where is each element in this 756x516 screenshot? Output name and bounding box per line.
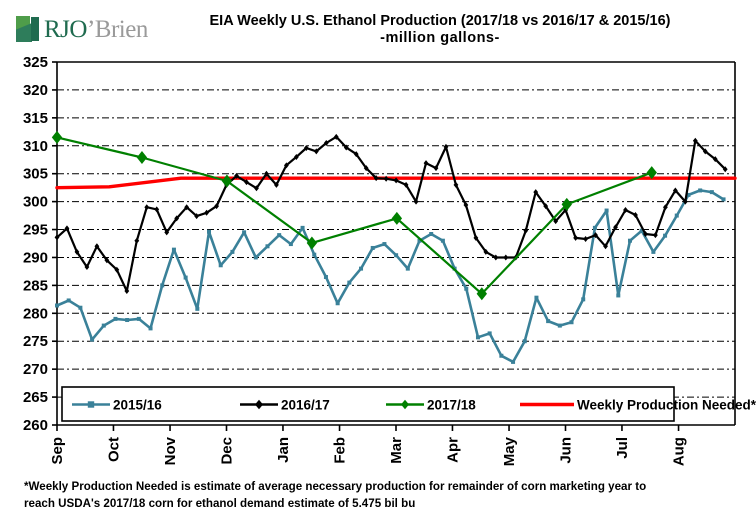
y-axis-tick-label: 325 <box>23 54 48 71</box>
series-2015-16-marker <box>523 339 527 343</box>
series-2015-16-marker <box>113 317 117 321</box>
series-2015-16-marker <box>651 250 655 254</box>
series-2015-16-marker <box>371 246 375 250</box>
series-2016-17-marker <box>583 236 588 242</box>
series-2015-16-marker <box>137 317 141 321</box>
series-2015-16-marker <box>324 275 328 279</box>
series-2015-16-marker <box>558 324 562 328</box>
series-2015-16-marker <box>67 298 71 302</box>
series-2015-16-line <box>57 190 724 362</box>
series-2015-16-marker <box>722 197 726 201</box>
series-2015-16-marker <box>125 318 129 322</box>
series-2015-16-marker <box>78 306 82 310</box>
series-2015-16-marker <box>265 244 269 248</box>
series-2015-16-marker <box>476 335 480 339</box>
series-2015-16-marker <box>511 360 515 364</box>
series-2015-16-marker <box>195 307 199 311</box>
chart-footnote: *Weekly Production Needed is estimate of… <box>24 479 740 513</box>
y-axis-tick-label: 260 <box>23 417 48 434</box>
series-2015-16-marker <box>499 354 503 358</box>
x-axis-tick-label: Sep <box>49 437 66 465</box>
series-2015-16-marker <box>160 283 164 287</box>
y-axis-tick-label: 290 <box>23 249 48 266</box>
footnote-line-1: *Weekly Production Needed is estimate of… <box>24 479 740 496</box>
series-2015-16-marker <box>336 301 340 305</box>
series-2015-16-marker <box>546 319 550 323</box>
legend-marker-1 <box>88 401 94 407</box>
x-axis-tick-label: Mar <box>388 437 405 464</box>
series-2015-16-marker <box>570 320 574 324</box>
y-axis-tick-label: 305 <box>23 166 48 183</box>
series-2015-16-marker <box>149 326 153 330</box>
series-2017-18-marker <box>137 151 147 164</box>
series-2015-16-marker <box>605 209 609 213</box>
y-axis-tick-label: 285 <box>23 277 48 294</box>
series-2015-16-marker <box>628 239 632 243</box>
series-2015-16-marker <box>230 250 234 254</box>
x-axis-tick-label: Apr <box>444 437 461 463</box>
series-2015-16-marker <box>347 281 351 285</box>
series-2017-18-marker <box>222 174 232 187</box>
series-2015-16-marker <box>254 255 258 259</box>
y-axis-tick-label: 265 <box>23 389 48 406</box>
series-2015-16-marker <box>675 214 679 218</box>
legend-label-2: 2016/17 <box>281 398 330 413</box>
series-2015-16-marker <box>593 226 597 230</box>
series-2015-16-marker <box>663 234 667 238</box>
y-axis-tick-label: 300 <box>23 194 48 211</box>
series-2015-16-marker <box>312 253 316 257</box>
series-2015-16-marker <box>698 188 702 192</box>
series-2015-16-marker <box>534 296 538 300</box>
y-axis-tick-label: 320 <box>23 82 48 99</box>
x-axis-tick-label: Jan <box>275 437 292 463</box>
x-axis-tick-label: May <box>501 436 518 466</box>
series-2015-16-marker <box>242 230 246 234</box>
chart-svg: 2602652702752802852902953003053103153203… <box>0 0 756 516</box>
x-axis-tick-label: Jun <box>558 437 575 464</box>
x-axis-tick-label: Aug <box>671 437 688 466</box>
series-2015-16-marker <box>207 230 211 234</box>
series-2015-16-marker <box>406 267 410 271</box>
series-2017-18-line <box>57 137 652 293</box>
series-2015-16-marker <box>102 324 106 328</box>
series-2015-16-marker <box>219 263 223 267</box>
series-2015-16-marker <box>488 331 492 335</box>
y-axis-tick-label: 270 <box>23 361 48 378</box>
series-2015-16-marker <box>382 242 386 246</box>
x-axis-tick-label: Dec <box>219 437 236 465</box>
series-2015-16-marker <box>90 338 94 342</box>
x-axis-tick-label: Oct <box>105 437 122 462</box>
series-2015-16-marker <box>710 190 714 194</box>
legend-label-1: 2015/16 <box>113 398 162 413</box>
series-2015-16-marker <box>581 297 585 301</box>
series-2015-16-marker <box>394 253 398 257</box>
footnote-line-2: reach USDA's 2017/18 corn for ethanol de… <box>24 496 740 513</box>
series-2015-16-marker <box>184 276 188 280</box>
x-axis-tick-label: Nov <box>162 436 179 465</box>
y-axis-tick-label: 275 <box>23 333 48 350</box>
series-2015-16-marker <box>172 248 176 252</box>
series-2017-18-marker <box>52 131 62 144</box>
series-2015-16-marker <box>616 293 620 297</box>
y-axis-tick-label: 310 <box>23 138 48 155</box>
legend-label-4: Weekly Production Needed* <box>577 398 756 413</box>
series-2015-16-marker <box>464 287 468 291</box>
series-2015-16-marker <box>301 226 305 230</box>
chart-plot-area: 2602652702752802852902953003053103153203… <box>0 0 756 516</box>
series-2015-16-marker <box>441 239 445 243</box>
y-axis-tick-label: 295 <box>23 222 48 239</box>
series-2015-16-marker <box>359 267 363 271</box>
series-2015-16-marker <box>55 303 59 307</box>
x-axis-tick-label: Jul <box>614 437 631 459</box>
y-axis-tick-label: 280 <box>23 305 48 322</box>
series-2015-16-marker <box>289 242 293 246</box>
y-axis-tick-label: 315 <box>23 110 48 127</box>
legend-label-3: 2017/18 <box>427 398 476 413</box>
x-axis-tick-label: Feb <box>332 437 349 464</box>
series-2016-17-marker <box>503 254 508 260</box>
series-2015-16-marker <box>429 232 433 236</box>
series-2015-16-marker <box>277 233 281 237</box>
